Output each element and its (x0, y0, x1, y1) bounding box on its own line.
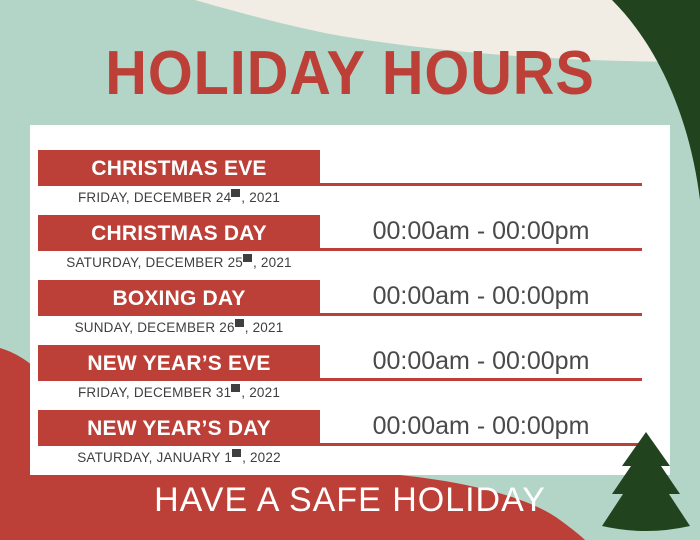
holiday-label-banner: NEW YEAR’S DAY (38, 410, 320, 446)
holiday-label: BOXING DAY (112, 288, 245, 309)
holiday-label: CHRISTMAS EVE (91, 158, 266, 179)
holiday-label-banner: CHRISTMAS DAY (38, 215, 320, 251)
date-suffix: , 2021 (241, 385, 280, 400)
schedule-row: BOXING DAY00:00am - 00:00pmSUNDAY, DECEM… (30, 280, 670, 345)
holiday-date: SUNDAY, DECEMBER 26, 2021 (38, 318, 320, 338)
date-prefix: FRIDAY, DECEMBER 24 (78, 190, 231, 205)
holiday-date: FRIDAY, DECEMBER 24, 2021 (38, 188, 320, 208)
hours-value: 00:00am - 00:00pm (320, 215, 642, 248)
holiday-label-banner: CHRISTMAS EVE (38, 150, 320, 186)
hours-underline (320, 183, 642, 186)
ordinal-suffix-glyph (235, 319, 244, 327)
ordinal-suffix-glyph (232, 449, 241, 457)
holiday-label: CHRISTMAS DAY (91, 223, 267, 244)
holiday-label: NEW YEAR’S EVE (87, 353, 270, 374)
schedule-card: CHRISTMAS EVEFRIDAY, DECEMBER 24, 2021CH… (30, 125, 670, 475)
ordinal-suffix-glyph (231, 189, 240, 197)
schedule-row: NEW YEAR’S DAY00:00am - 00:00pmSATURDAY,… (30, 410, 670, 475)
date-prefix: SUNDAY, DECEMBER 26 (75, 320, 235, 335)
date-prefix: SATURDAY, JANUARY 1 (77, 450, 232, 465)
holiday-label-banner: BOXING DAY (38, 280, 320, 316)
holiday-label-banner: NEW YEAR’S EVE (38, 345, 320, 381)
schedule-row: CHRISTMAS DAY00:00am - 00:00pmSATURDAY, … (30, 215, 670, 280)
date-suffix: , 2021 (245, 320, 284, 335)
hours-value (320, 150, 642, 183)
schedule-row: NEW YEAR’S EVE00:00am - 00:00pmFRIDAY, D… (30, 345, 670, 410)
holiday-label: NEW YEAR’S DAY (87, 418, 271, 439)
hours-underline (320, 443, 642, 446)
page-title: HOLIDAY HOURS (25, 38, 676, 110)
holiday-hours-poster: HOLIDAY HOURS CHRISTMAS EVEFRIDAY, DECEM… (0, 0, 700, 540)
hours-value: 00:00am - 00:00pm (320, 280, 642, 313)
schedule-row: CHRISTMAS EVEFRIDAY, DECEMBER 24, 2021 (30, 150, 670, 215)
holiday-date: SATURDAY, DECEMBER 25, 2021 (38, 253, 320, 273)
hours-value: 00:00am - 00:00pm (320, 410, 642, 443)
footer-message: HAVE A SAFE HOLIDAY (0, 479, 700, 521)
date-prefix: FRIDAY, DECEMBER 31 (78, 385, 231, 400)
hours-underline (320, 248, 642, 251)
date-suffix: , 2021 (241, 190, 280, 205)
holiday-date: FRIDAY, DECEMBER 31, 2021 (38, 383, 320, 403)
hours-underline (320, 378, 642, 381)
christmas-tree-icon (600, 428, 692, 540)
holiday-date: SATURDAY, JANUARY 1, 2022 (38, 448, 320, 468)
hours-value: 00:00am - 00:00pm (320, 345, 642, 378)
date-suffix: , 2022 (242, 450, 281, 465)
hours-underline (320, 313, 642, 316)
date-prefix: SATURDAY, DECEMBER 25 (66, 255, 243, 270)
ordinal-suffix-glyph (243, 254, 252, 262)
ordinal-suffix-glyph (231, 384, 240, 392)
date-suffix: , 2021 (253, 255, 292, 270)
